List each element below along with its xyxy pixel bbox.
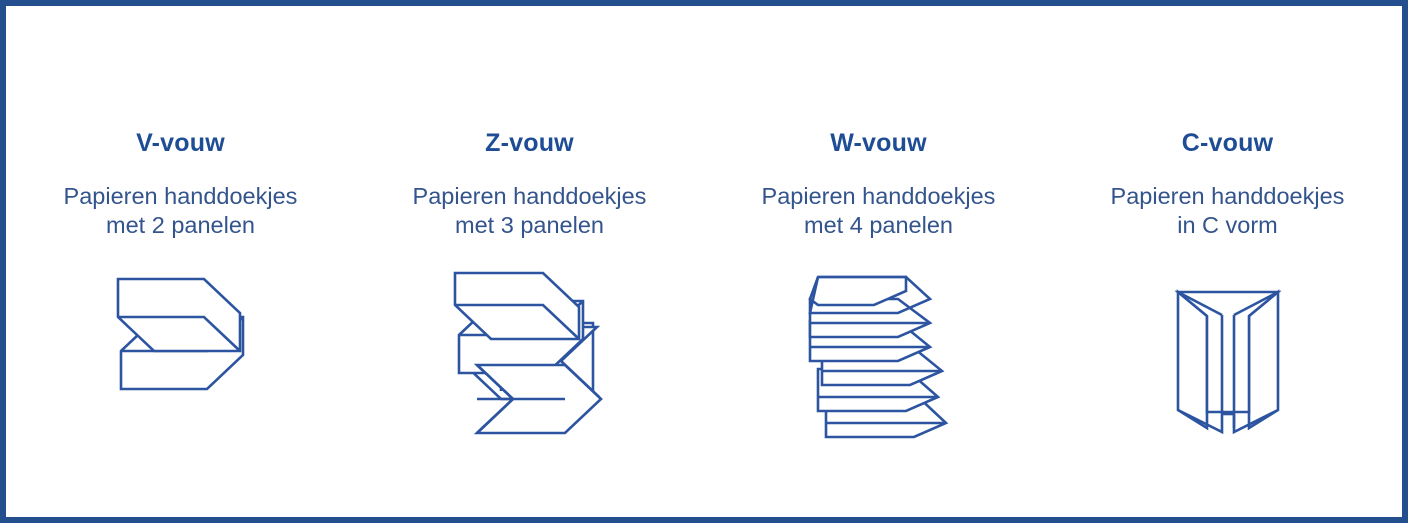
fold-types-row: V-vouw Papieren handdoekjes met 2 panele… [6,6,1402,517]
fold-column-c: C-vouw Papieren handdoekjes in C vorm [1053,6,1402,517]
fold-title-z: Z-vouw [485,131,574,156]
fold-description-c: Papieren handdoekjes in C vorm [1111,182,1345,239]
fold-description-v: Papieren handdoekjes met 2 panelen [64,182,298,239]
fold-description-z: Papieren handdoekjes met 3 panelen [413,182,647,239]
fold-column-v: V-vouw Papieren handdoekjes met 2 panele… [6,6,355,517]
fold-title-c: C-vouw [1182,131,1273,156]
fold-description-w: Papieren handdoekjes met 4 panelen [762,182,996,239]
v-fold-figure [6,269,355,444]
fold-column-z: Z-vouw Papieren handdoekjes met 3 panele… [355,6,704,517]
w-fold-diagram [796,273,961,441]
z-fold-figure [355,269,704,444]
w-fold-figure [704,269,1053,444]
c-fold-diagram [1173,282,1283,432]
fold-title-v: V-vouw [136,131,225,156]
c-fold-figure [1053,269,1402,444]
v-fold-diagram [93,277,268,437]
fold-title-w: W-vouw [830,131,927,156]
fold-column-w: W-vouw Papieren handdoekjes met 4 panele… [704,6,1053,517]
diagram-card: V-vouw Papieren handdoekjes met 2 panele… [0,0,1408,523]
z-fold-diagram [437,269,622,444]
